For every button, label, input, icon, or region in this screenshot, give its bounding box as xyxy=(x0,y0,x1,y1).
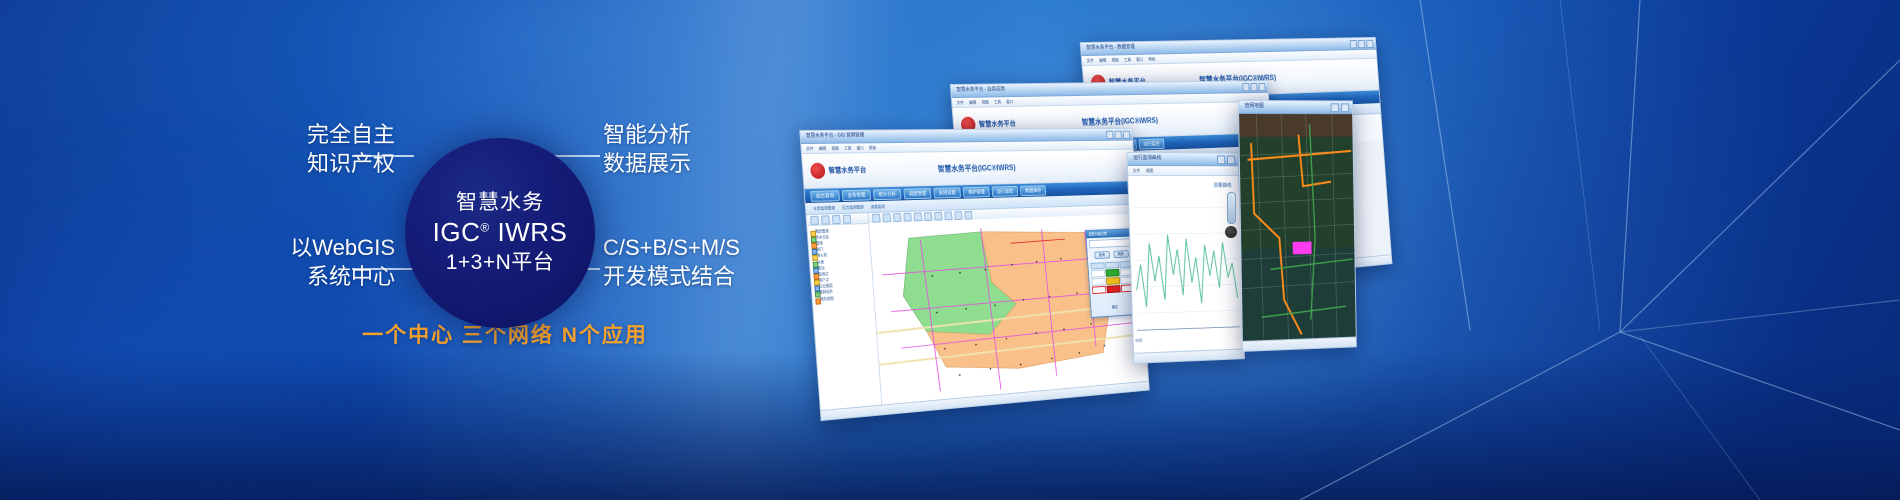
menu-item[interactable]: 窗口 xyxy=(1006,99,1013,105)
screenshot-window-chart[interactable]: 运行监测曲线 文件 视图 流量曲线 xyxy=(1127,152,1246,364)
screenshot-window-gis[interactable]: 智慧水务平台 - GIS 管网管理 文件 编辑 视图 工具 窗口 帮助 智慧水务… xyxy=(799,128,1149,421)
nav-button[interactable]: 数据维护 xyxy=(1020,185,1046,196)
subnav-item[interactable]: 水质监测管理 xyxy=(813,205,835,212)
table-cell xyxy=(1092,278,1106,286)
feature-label-left-bottom: 以WebGIS 系统中心 xyxy=(175,233,395,291)
feature-label-line: 系统中心 xyxy=(175,262,395,291)
window-title: 管网地图 xyxy=(1245,102,1264,109)
map-zoom-compass-widget[interactable] xyxy=(1225,192,1237,238)
nav-button[interactable]: 运行监控 xyxy=(992,185,1019,196)
menu-item[interactable]: 视图 xyxy=(1111,57,1119,63)
pan-compass-icon[interactable] xyxy=(1225,226,1237,238)
feature-label-line: 以WebGIS xyxy=(175,233,395,262)
app-title: 智慧水务平台(IGC®IWRS) xyxy=(937,162,1016,174)
nav-button[interactable]: 业务管理 xyxy=(842,189,871,201)
nav-button[interactable]: 维护管理 xyxy=(963,186,990,197)
feature-label-right-bottom: C/S+B/S+M/S 开发模式结合 xyxy=(603,233,740,291)
nav-button[interactable]: 运行监控 xyxy=(1139,138,1165,149)
hero-logo-circle: 智慧水务 IGC® IWRS 1+3+N平台 xyxy=(405,138,595,328)
window-controls[interactable] xyxy=(1217,155,1235,164)
window-title: 智慧水务平台 - GIS 管网管理 xyxy=(806,132,864,139)
menu-item[interactable]: 文件 xyxy=(806,145,814,151)
confirm-button[interactable]: 确定 xyxy=(1112,304,1118,309)
menu-item[interactable]: 视图 xyxy=(1146,168,1154,174)
feature-label-left-top: 完全自主 知识产权 xyxy=(180,120,395,178)
screenshot-window-satellite-map[interactable]: 管网地图 xyxy=(1238,100,1357,352)
menu-item[interactable]: 视图 xyxy=(831,145,839,151)
feature-label-line: 知识产权 xyxy=(180,149,395,178)
nav-button[interactable]: 统计分析 xyxy=(873,188,902,199)
table-cell xyxy=(1092,286,1106,294)
feature-label-line: 智能分析 xyxy=(603,120,691,149)
feature-label-right-top: 智能分析 数据展示 xyxy=(603,120,691,178)
hero-circle-line3: 1+3+N平台 xyxy=(446,250,555,275)
menu-item[interactable]: 文件 xyxy=(1133,168,1141,174)
nav-button[interactable]: 调度管理 xyxy=(903,188,931,199)
brand-name: 智慧水务平台 xyxy=(828,165,866,176)
company-logo-icon xyxy=(810,163,826,179)
menu-item[interactable]: 视图 xyxy=(981,99,989,105)
hero-product-suffix: IWRS xyxy=(497,217,567,247)
status-swatch xyxy=(1107,285,1121,293)
chart-axis-note: 时间 xyxy=(1135,339,1142,344)
registered-trademark-icon: ® xyxy=(480,220,489,234)
feature-label-line: 完全自主 xyxy=(180,120,395,149)
window-controls[interactable] xyxy=(1350,40,1374,49)
table-cell xyxy=(1091,270,1105,278)
window-title: 运行监测曲线 xyxy=(1133,154,1161,161)
menu-item[interactable]: 窗口 xyxy=(1136,56,1143,62)
table-header-cell xyxy=(1105,262,1119,269)
subnav-item[interactable]: 流量监测 xyxy=(870,203,884,209)
window-title: 智慧水务平台 - 数据管理 xyxy=(1086,43,1135,51)
marketing-banner: 智慧水务平台 - 数据管理 文件 编辑 视图 工具 窗口 帮助 智慧水务平台 智… xyxy=(0,0,1900,500)
query-button[interactable]: 查询 xyxy=(1094,251,1110,259)
window-controls[interactable] xyxy=(1106,131,1130,139)
table-row[interactable] xyxy=(1092,284,1135,294)
table-header-cell xyxy=(1091,262,1105,269)
window-titlebar: 管网地图 xyxy=(1239,101,1352,114)
menu-bar[interactable]: 文件 视图 xyxy=(1128,166,1238,176)
menu-item[interactable]: 编辑 xyxy=(969,99,977,105)
window-title: 智慧水务平台 - 业务应用 xyxy=(956,85,1005,93)
feature-label-line: 数据展示 xyxy=(603,149,691,178)
window-controls[interactable] xyxy=(1331,103,1350,112)
menu-item[interactable]: 文件 xyxy=(956,99,964,105)
chart-title: 流量曲线 xyxy=(1213,182,1231,189)
tree-toolbar[interactable] xyxy=(806,213,868,226)
menu-item[interactable]: 帮助 xyxy=(869,145,876,151)
menu-item[interactable]: 编辑 xyxy=(1099,57,1107,63)
window-titlebar: 运行监测曲线 xyxy=(1127,153,1237,166)
status-swatch xyxy=(1106,269,1120,277)
product-screenshots-cluster: 智慧水务平台 - 数据管理 文件 编辑 视图 工具 窗口 帮助 智慧水务平台 智… xyxy=(770,42,1900,472)
nav-button[interactable]: 综合查询 xyxy=(810,190,840,202)
feature-label-line: C/S+B/S+M/S xyxy=(603,233,740,262)
menu-item[interactable]: 帮助 xyxy=(1148,56,1155,62)
satellite-map-canvas[interactable] xyxy=(1239,114,1356,343)
menu-item[interactable]: 工具 xyxy=(1124,57,1131,63)
app-title: 智慧水务平台(IGC®IWRS) xyxy=(1081,115,1158,127)
subnav-item[interactable]: 压力监测管理 xyxy=(842,204,864,211)
zoom-slider[interactable] xyxy=(1227,192,1236,224)
hero-circle-line2: IGC® IWRS xyxy=(433,218,568,248)
menu-item[interactable]: 工具 xyxy=(844,145,852,151)
nav-button[interactable]: 系统设置 xyxy=(933,187,961,198)
feature-label-line: 开发模式结合 xyxy=(603,262,740,291)
hero-circle-line1: 智慧水务 xyxy=(456,191,544,214)
satellite-map-layer xyxy=(1239,114,1356,343)
menu-item[interactable]: 文件 xyxy=(1086,57,1094,63)
dialog-input[interactable] xyxy=(1089,238,1132,248)
hero-product-code: IGC xyxy=(433,217,481,247)
refresh-button[interactable]: 刷新 xyxy=(1113,250,1129,258)
menu-item[interactable]: 编辑 xyxy=(819,145,827,151)
menu-item[interactable]: 窗口 xyxy=(856,145,864,151)
window-controls[interactable] xyxy=(1242,83,1265,91)
menu-item[interactable]: 工具 xyxy=(994,99,1001,105)
status-swatch xyxy=(1106,277,1120,285)
